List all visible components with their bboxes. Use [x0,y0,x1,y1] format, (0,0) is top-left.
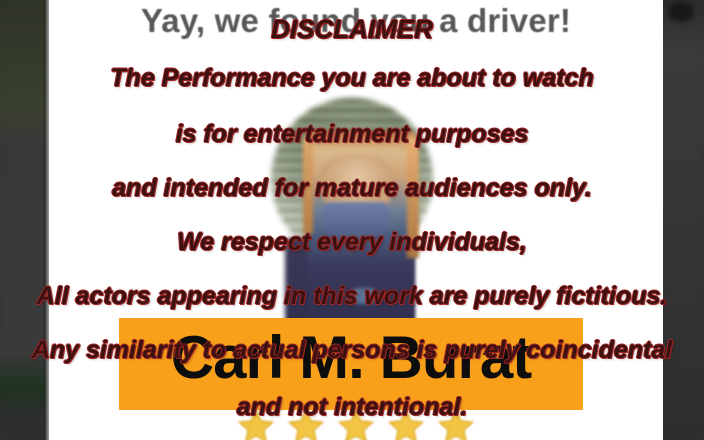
star-icon [438,408,474,440]
letterbox-right-bar [662,0,704,440]
photo-inset-right-edge [407,138,419,258]
video-content-card: Yay, we found you a driver! Carl M. Bura… [49,0,663,440]
photo-inset-left-edge [303,138,313,234]
star-icon [238,408,274,440]
star-icon [288,408,324,440]
star-icon [338,408,374,440]
star-icon [388,408,424,440]
performer-name-banner: Carl M. Burat [119,318,583,410]
performer-photo [271,98,433,338]
photo-face-mask [323,202,389,236]
rating-stars [49,408,663,440]
photo-shirt-logo [353,288,375,304]
video-player-frame: Yay, we found you a driver! Carl M. Bura… [0,0,704,440]
letterbox-left-bar [0,0,44,440]
frame-heading: Yay, we found you a driver! [49,2,663,40]
performer-photo-inset [307,132,415,328]
performer-name: Carl M. Burat [119,328,583,388]
